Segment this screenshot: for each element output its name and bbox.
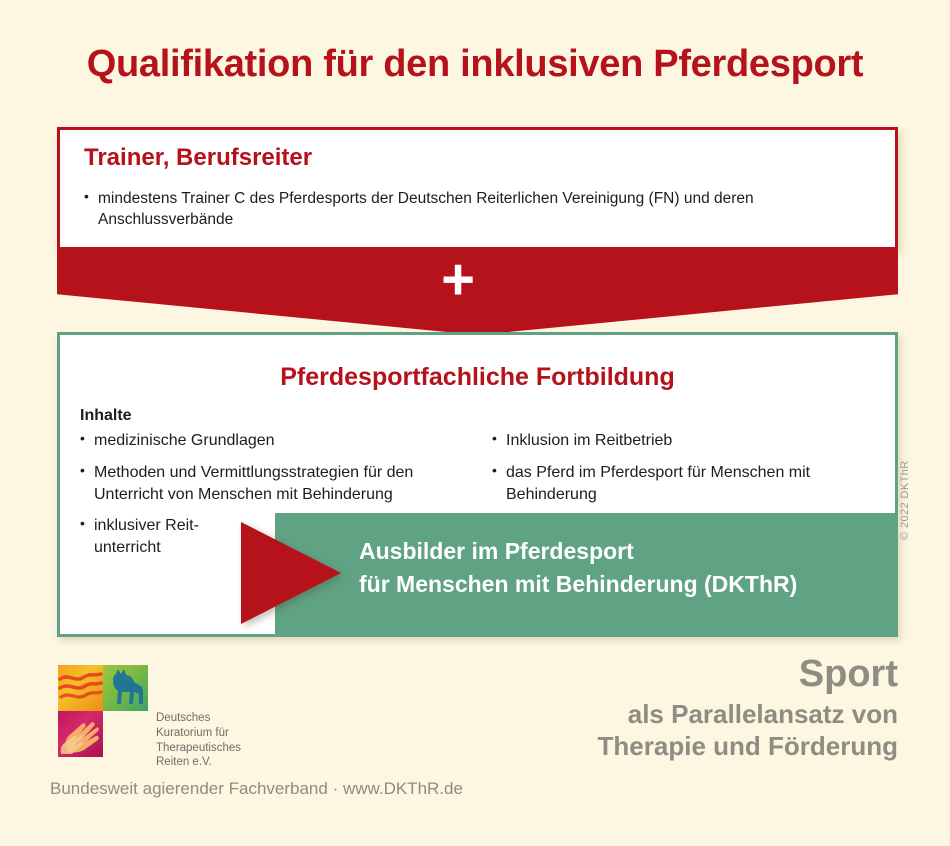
- hands-icon: [58, 711, 103, 757]
- result-line-1: Ausbilder im Pferdesport: [359, 535, 797, 568]
- trainer-box: Trainer, Berufsreiter mindestens Trainer…: [57, 127, 898, 250]
- list-item: mindestens Trainer C des Pferdesports de…: [84, 188, 875, 231]
- horse-icon-svg: [103, 665, 148, 711]
- sport-title: Sport: [478, 655, 898, 695]
- connector-chevron-band: [57, 250, 898, 335]
- sport-subtitle-line-1: als Parallelansatz von: [478, 699, 898, 731]
- flame-icon: [58, 665, 103, 711]
- list-item: das Pferd im Pferdesport für Menschen mi…: [492, 462, 882, 506]
- arrow-right-icon: [241, 522, 341, 624]
- dkthr-logo: Deutsches Kuratorium für Therapeutisches…: [58, 665, 298, 765]
- infographic-page: Qualifikation für den inklusiven Pferdes…: [0, 0, 950, 846]
- fortbildung-bullets-right: Inklusion im Reitbetrieb das Pferd im Pf…: [492, 430, 882, 515]
- copyright-notice: © 2022 DKThR: [899, 440, 911, 540]
- result-line-2: für Menschen mit Behinderung (DKThR): [359, 568, 797, 601]
- sport-subtitle: als Parallelansatz von Therapie und Förd…: [478, 699, 898, 762]
- hands-icon-svg: [58, 711, 103, 757]
- logo-color-grid: [58, 665, 148, 757]
- trainer-box-heading: Trainer, Berufsreiter: [84, 144, 312, 172]
- trainer-box-bullet-list: mindestens Trainer C des Pferdesports de…: [84, 188, 875, 234]
- sport-subtitle-line-2: Therapie und Förderung: [478, 731, 898, 763]
- result-panel: Ausbilder im Pferdesport für Menschen mi…: [275, 513, 895, 634]
- list-item: Inklusion im Reitbetrieb: [492, 430, 882, 452]
- page-title: Qualifikation für den inklusiven Pferdes…: [0, 44, 950, 86]
- logo-wordmark: Deutsches Kuratorium für Therapeutisches…: [156, 711, 241, 770]
- horse-icon: [103, 665, 148, 711]
- logo-name-line-1: Deutsches: [156, 711, 241, 726]
- result-text: Ausbilder im Pferdesport für Menschen mi…: [359, 535, 797, 600]
- inhalte-label: Inhalte: [80, 407, 132, 425]
- sport-block: Sport als Parallelansatz von Therapie un…: [478, 655, 898, 762]
- logo-name-line-3: Therapeutisches: [156, 741, 241, 756]
- flame-icon-svg: [58, 665, 103, 711]
- logo-name-line-4: Reiten e.V.: [156, 755, 241, 770]
- fortbildung-box-heading: Pferdesportfachliche Fortbildung: [60, 363, 895, 392]
- footer-text: Bundesweit agierender Fachverband · www.…: [50, 779, 463, 799]
- logo-name-line-2: Kuratorium für: [156, 726, 241, 741]
- list-item: Methoden und Vermittlungsstrategien für …: [80, 462, 480, 506]
- list-item: medizinische Grundlagen: [80, 430, 480, 452]
